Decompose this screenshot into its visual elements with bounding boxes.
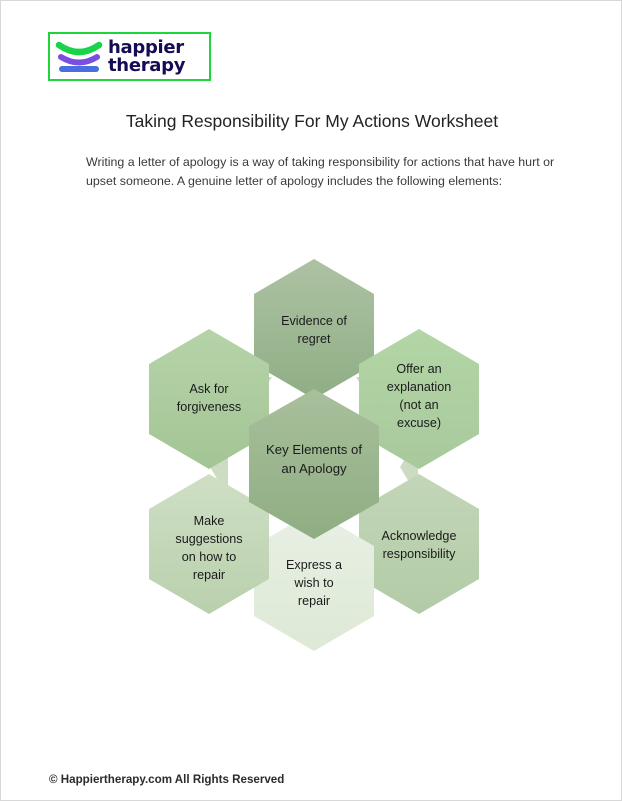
hexagon-label-line: wish to: [293, 576, 333, 590]
hexagon-label-line: responsibility: [383, 547, 456, 561]
brand-wordmark: happier therapy: [108, 39, 185, 75]
three-arcs-icon: [55, 38, 103, 76]
hexagon-label-line: repair: [193, 568, 225, 582]
hexagon-evidence-of-regret[interactable]: Evidence of regret: [254, 259, 374, 399]
hexagon-label-line: Offer an: [396, 362, 441, 376]
hexagon-label-line: Make: [194, 514, 225, 528]
key-elements-diagram: Evidence of regret Offer an explanation …: [109, 249, 519, 661]
intro-paragraph: Writing a letter of apology is a way of …: [86, 153, 558, 191]
brand-line-2: therapy: [108, 57, 185, 75]
hexagon-label-line: Acknowledge: [382, 529, 457, 543]
brand-line-1: happier: [108, 39, 185, 57]
hexagon-label-line: repair: [298, 594, 330, 608]
hexagon-label-line: suggestions: [175, 532, 242, 546]
hexagon-label-line: explanation: [387, 380, 451, 394]
hexagon-label-line: Evidence of: [281, 314, 347, 328]
copyright-footer: © Happiertherapy.com All Rights Reserved: [49, 773, 284, 786]
hexagon-label-line: Ask for: [189, 382, 228, 396]
hexagon-label-line: an Apology: [281, 461, 347, 476]
hexagon-label-line: Express a: [286, 558, 342, 572]
hexagon-label-line: forgiveness: [177, 400, 241, 414]
hexagon-label-line: excuse): [397, 416, 441, 430]
hexagon-label-line: (not an: [399, 398, 438, 412]
worksheet-page: happier therapy Taking Responsibility Fo…: [0, 0, 622, 801]
brand-logo: happier therapy: [48, 32, 211, 81]
hexagon-label-line: on how to: [182, 550, 237, 564]
hexagon-label-line: Key Elements of: [266, 442, 362, 457]
hexagon-label-line: regret: [298, 332, 331, 346]
page-title: Taking Responsibility For My Actions Wor…: [1, 111, 622, 132]
